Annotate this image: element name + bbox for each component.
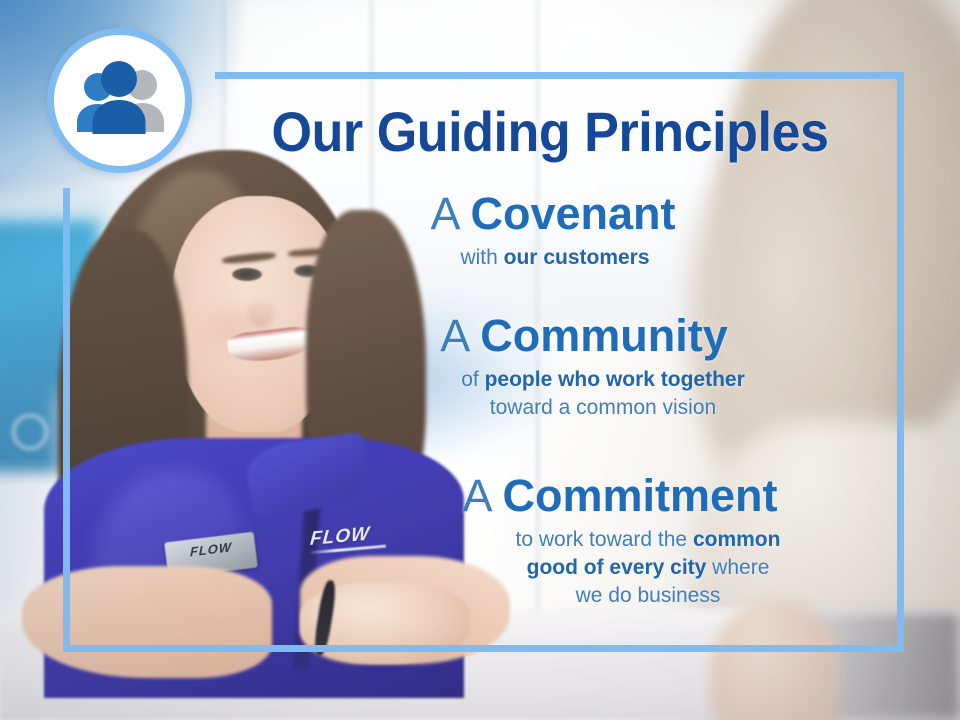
principle-community: A Community of people who work togethert…: [200, 312, 900, 422]
principle-article: A: [440, 310, 480, 361]
subtext-emphasis: people who work together: [485, 368, 745, 391]
page-title: Our Guiding Principles: [225, 104, 876, 160]
subtext-run: with: [460, 246, 503, 269]
text-content: Our Guiding Principles A Covenant with o…: [200, 72, 900, 652]
subtext-run: to work toward the: [516, 528, 693, 551]
principle-heading: A Community: [200, 312, 900, 360]
principle-subtext: to work toward the commongood of every c…: [200, 526, 900, 611]
subtext-emphasis: our customers: [504, 246, 650, 269]
principle-noun: Covenant: [471, 188, 676, 239]
principle-subtext: with our customers: [200, 244, 900, 272]
subtext-run: where: [706, 556, 769, 579]
subtext-emphasis: common: [693, 528, 781, 551]
subtext-run: we do business: [576, 584, 721, 607]
principle-noun: Commitment: [503, 470, 778, 521]
principle-commitment: A Commitment to work toward the commongo…: [200, 472, 900, 611]
principle-noun: Community: [480, 310, 728, 361]
subtext-run: of: [461, 368, 484, 391]
principle-article: A: [462, 470, 502, 521]
poster-canvas: FLOW FLOW O: [0, 0, 960, 720]
principle-heading: A Covenant: [200, 190, 900, 238]
principle-covenant: A Covenant with our customers: [200, 190, 900, 272]
subtext-emphasis: good of every city: [527, 556, 707, 579]
people-group-icon: [72, 58, 168, 140]
subtext-run: toward a common vision: [490, 396, 716, 419]
principle-heading: A Commitment: [200, 472, 900, 520]
principle-article: A: [430, 188, 470, 239]
principle-subtext: of people who work togethertoward a comm…: [200, 366, 900, 423]
